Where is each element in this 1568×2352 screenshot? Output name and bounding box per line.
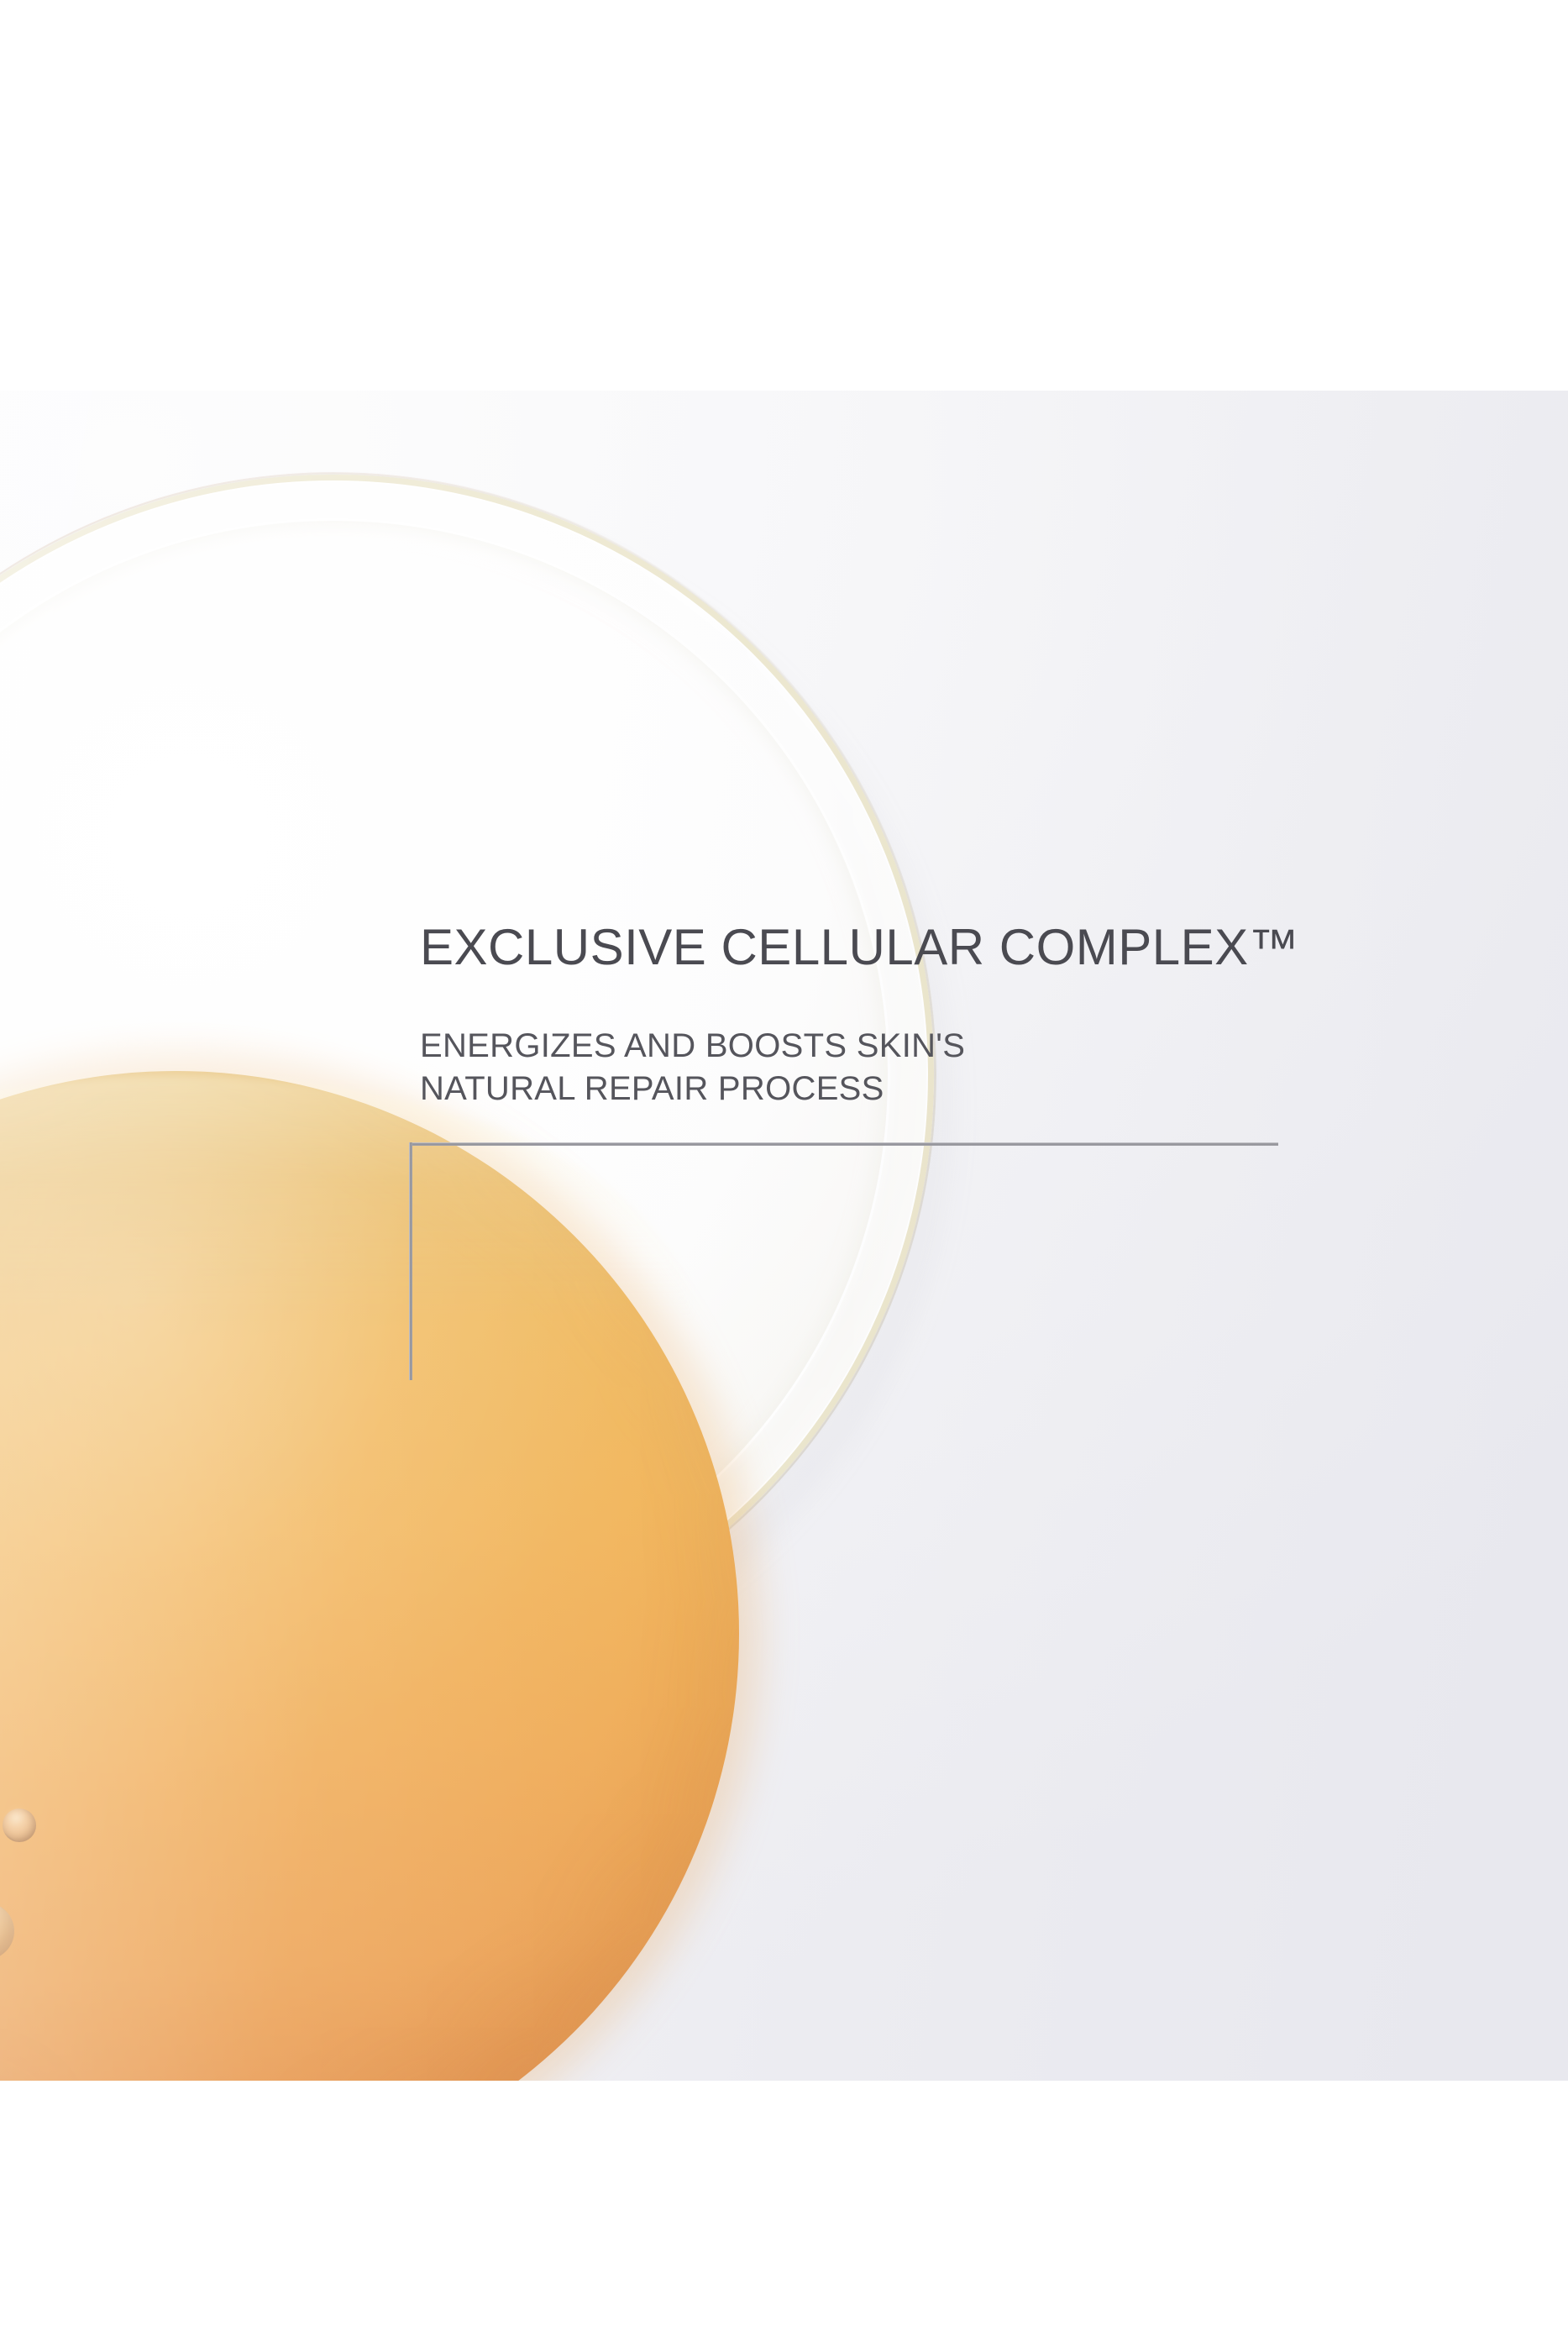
page-title: EXCLUSIVE CELLULAR COMPLEX™ xyxy=(420,922,1299,973)
callout-vertical-rule xyxy=(409,1142,412,1380)
claim-subcopy-line-2: NATURAL REPAIR PROCESS xyxy=(420,1068,965,1110)
callout-horizontal-rule xyxy=(409,1142,1278,1146)
bubble-isolated xyxy=(3,1809,36,1842)
claim-subcopy: ENERGIZES AND BOOSTS SKIN'S NATURAL REPA… xyxy=(420,1025,965,1110)
oil-pool xyxy=(0,1071,739,2081)
oil-macro-photograph: EXCLUSIVE CELLULAR COMPLEX™ ENERGIZES AN… xyxy=(0,391,1568,2081)
claim-subcopy-line-1: ENERGIZES AND BOOSTS SKIN'S xyxy=(420,1025,965,1068)
oil-meniscus xyxy=(0,1075,694,1323)
product-claim-image: EXCLUSIVE CELLULAR COMPLEX™ ENERGIZES AN… xyxy=(0,0,1568,2352)
